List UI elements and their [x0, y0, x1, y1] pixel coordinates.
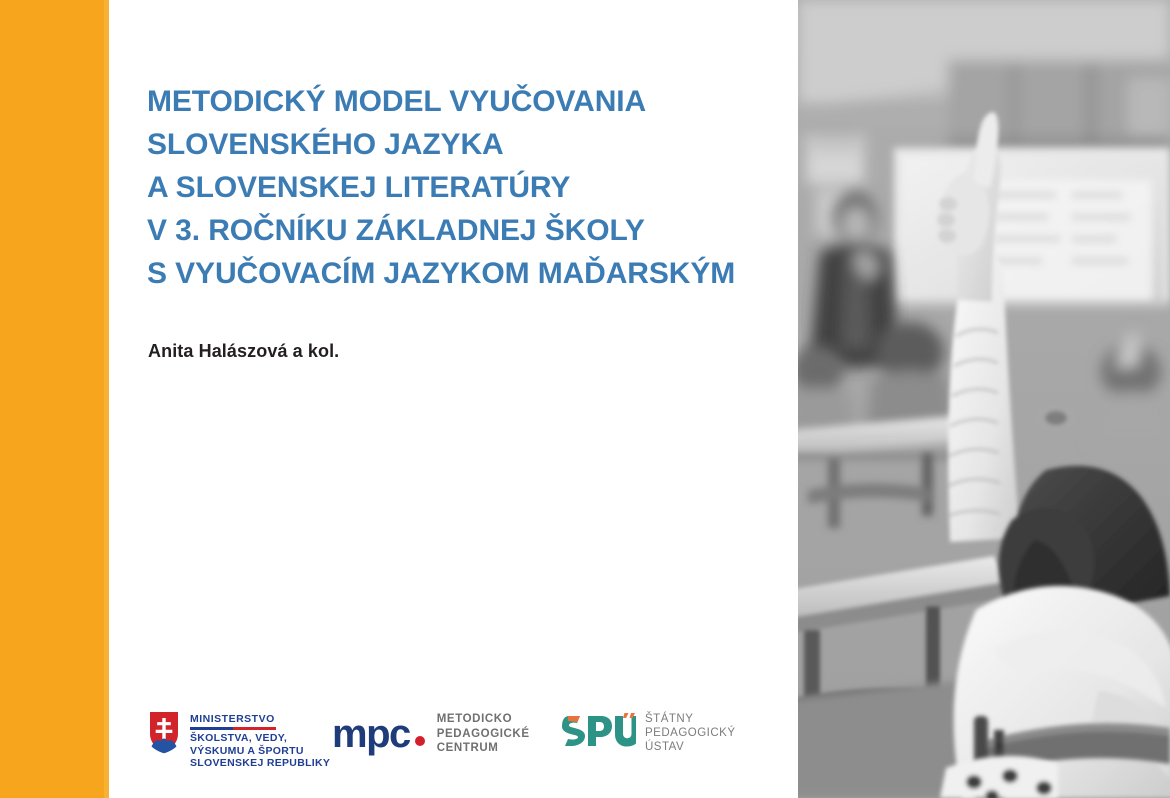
logo-ministry-of-education: MINISTERSTVO ŠKOLSTVA, VEDY, VÝSKUMU A Š… — [147, 710, 330, 770]
ministry-headline: MINISTERSTVO — [190, 713, 330, 725]
logo-strip: MINISTERSTVO ŠKOLSTVA, VEDY, VÝSKUMU A Š… — [147, 706, 747, 776]
slovak-coat-of-arms-icon — [147, 710, 181, 754]
mpc-dot-icon — [415, 736, 425, 746]
logo-spu: ŠTÁTNY PEDAGOGICKÝ ÚSTAV — [562, 712, 736, 754]
ministry-subline: ŠKOLSTVA, VEDY, VÝSKUMU A ŠPORTU SLOVENS… — [190, 732, 330, 770]
ministry-text-block: MINISTERSTVO ŠKOLSTVA, VEDY, VÝSKUMU A Š… — [190, 710, 330, 770]
logo-mpc: mpc METODICKO PEDAGOGICKÉ CENTRUM — [332, 712, 530, 756]
title-line-5: S VYUČOVACÍM JAZYKOM MAĎARSKÝM — [147, 252, 787, 295]
title-line-4: V 3. ROČNÍKU ZÁKLADNEJ ŠKOLY — [147, 209, 787, 252]
title-line-2: SLOVENSKÉHO JAZYKA — [147, 123, 787, 166]
ministry-rule — [190, 727, 276, 730]
accent-bar-edge — [104, 0, 109, 798]
author-name: Anita Halászová a kol. — [148, 341, 339, 362]
page-title: METODICKÝ MODEL VYUČOVANIA SLOVENSKÉHO J… — [147, 80, 787, 295]
classroom-photo-illustration — [798, 0, 1170, 798]
spu-fullname: ŠTÁTNY PEDAGOGICKÝ ÚSTAV — [645, 712, 736, 754]
cover-photograph — [798, 0, 1170, 798]
spu-wordmark-icon — [562, 713, 636, 753]
accent-bar-left — [0, 0, 108, 798]
document-cover: METODICKÝ MODEL VYUČOVANIA SLOVENSKÉHO J… — [0, 0, 1170, 798]
mpc-wordmark: mpc — [332, 714, 410, 754]
title-line-3: A SLOVENSKEJ LITERATÚRY — [147, 166, 787, 209]
mpc-fullname: METODICKO PEDAGOGICKÉ CENTRUM — [437, 712, 530, 756]
title-line-1: METODICKÝ MODEL VYUČOVANIA — [147, 80, 787, 123]
